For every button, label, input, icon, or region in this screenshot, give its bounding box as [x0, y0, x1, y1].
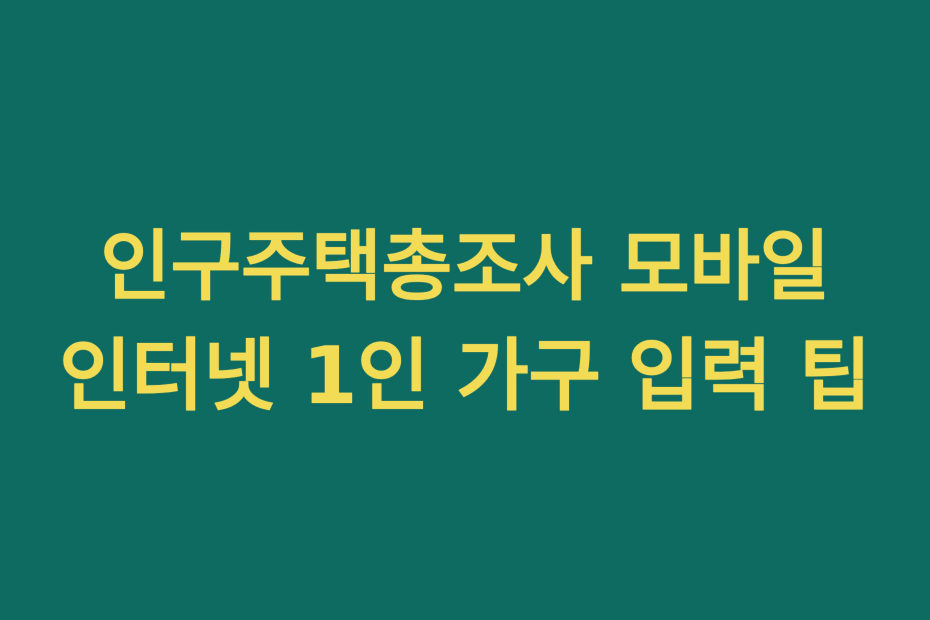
- title-line-2: 인터넷 1인 가구 입력 팁: [0, 322, 930, 430]
- title-line-1: 인구주택총조사 모바일: [0, 214, 930, 322]
- title-block: 인구주택총조사 모바일 인터넷 1인 가구 입력 팁: [0, 214, 930, 430]
- thumbnail-card: 인구주택총조사 모바일 인터넷 1인 가구 입력 팁: [0, 0, 930, 620]
